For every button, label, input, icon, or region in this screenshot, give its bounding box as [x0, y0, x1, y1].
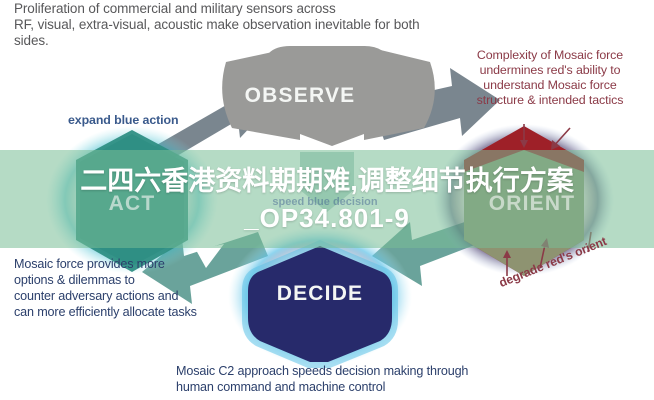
- label-expand-blue-action: expand blue action: [68, 113, 228, 128]
- node-label-observe: OBSERVE: [212, 84, 388, 108]
- top-caption: Proliferation of commercial and military…: [14, 1, 444, 49]
- watermark-text: 二四六香港资料期期难,调整细节执行方案 _OP34.801-9: [0, 162, 654, 237]
- left-note-options: Mosaic force provides more options & dil…: [14, 256, 246, 320]
- screenshot-stage: OBSERVE ORIENT DECIDE ACT speed blue dec…: [0, 0, 654, 400]
- watermark-line-2: _OP34.801-9: [0, 200, 654, 237]
- bottom-note-c2: Mosaic C2 approach speeds decision makin…: [176, 363, 506, 395]
- watermark-line-1: 二四六香港资料期期难,调整细节执行方案: [0, 162, 654, 200]
- node-label-decide: DECIDE: [232, 282, 408, 306]
- right-note-complexity: Complexity of Mosaic force undermines re…: [452, 48, 648, 109]
